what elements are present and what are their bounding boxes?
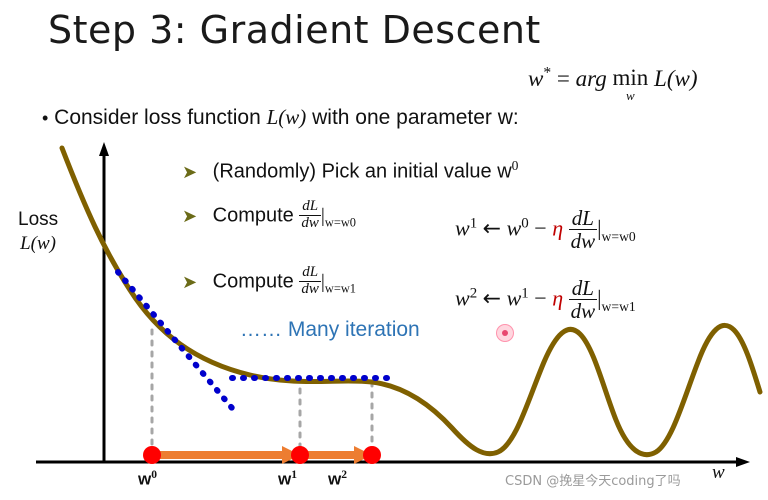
derivative-fraction: dL dw bbox=[299, 265, 321, 298]
evaluation-subscript: w=w bbox=[325, 282, 350, 296]
bullet-marker: • bbox=[42, 108, 48, 128]
x-tick-w1-base: w bbox=[278, 470, 291, 489]
fraction-numerator: dL bbox=[299, 199, 321, 216]
eq2-lhs: w bbox=[455, 286, 470, 311]
update-equation-2: w2 ← w1 − η dL dw |w=w1 bbox=[455, 278, 636, 323]
x-axis-label: w bbox=[712, 462, 725, 484]
argmin-lhs-sup: * bbox=[543, 64, 551, 81]
left-arrow-icon: ← bbox=[483, 287, 501, 312]
eq1-lhs: w bbox=[455, 216, 470, 241]
arrow-bullet-icon: ➤ bbox=[182, 272, 197, 293]
loss-curve bbox=[62, 148, 760, 455]
step-3-text: Compute bbox=[213, 271, 294, 293]
evaluation-subscript: w=w bbox=[602, 299, 629, 314]
evaluation-superscript: 0 bbox=[350, 216, 356, 230]
step-1-text: (Randomly) Pick an initial value w bbox=[213, 161, 512, 183]
eq1-lhs-sup: 1 bbox=[470, 215, 477, 231]
cursor-highlight-dot bbox=[496, 324, 514, 342]
many-iteration-label: Many iteration bbox=[288, 318, 420, 341]
fraction-numerator: dL bbox=[569, 277, 598, 300]
eq1-rhs-term: w bbox=[507, 216, 522, 241]
fraction-denominator: dw bbox=[569, 300, 598, 322]
fraction-denominator: dw bbox=[299, 282, 321, 298]
bullet-text-b: L(w) bbox=[267, 105, 307, 129]
argmin-equals: = bbox=[557, 66, 570, 91]
eq2-rhs-term: w bbox=[507, 286, 522, 311]
argmin-fn: L bbox=[654, 66, 667, 91]
argmin-arg: arg bbox=[576, 66, 607, 91]
x-tick-w2-base: w bbox=[328, 470, 341, 489]
step-item-3: ➤ Compute dL dw |w=w1 bbox=[182, 266, 356, 299]
evaluation-subscript: w=w bbox=[602, 229, 629, 244]
step-item-1: ➤ (Randomly) Pick an initial value w0 bbox=[182, 158, 518, 184]
derivative-fraction: dL dw bbox=[299, 199, 321, 232]
x-tick-w0-base: w bbox=[138, 470, 151, 489]
argmin-lhs: w bbox=[528, 66, 543, 91]
x-tick-w1-sup: 1 bbox=[291, 468, 297, 481]
arrow-bullet-icon: ➤ bbox=[182, 206, 197, 227]
eq2-derivative-fraction: dL dw bbox=[569, 277, 598, 322]
argmin-min-operator: min w bbox=[613, 66, 649, 103]
eq1-rhs-sup: 0 bbox=[521, 215, 528, 231]
evaluation-superscript: 1 bbox=[629, 299, 636, 314]
x-tick-w2-sup: 2 bbox=[341, 468, 347, 481]
argmin-fn-arg: (w) bbox=[667, 66, 698, 91]
fraction-denominator: dw bbox=[299, 216, 321, 232]
fraction-denominator: dw bbox=[569, 230, 598, 252]
bullet-text-a: Consider loss function bbox=[54, 106, 266, 129]
x-tick-w0: w0 bbox=[138, 468, 157, 490]
x-tick-w0-sup: 0 bbox=[151, 468, 157, 481]
y-axis-label-line1: Loss bbox=[18, 208, 58, 232]
many-iteration-note: …… Many iteration bbox=[240, 318, 420, 342]
evaluation-superscript: 1 bbox=[350, 282, 356, 296]
argmin-formula: w* = arg min w L(w) bbox=[528, 62, 698, 99]
x-tick-w1: w1 bbox=[278, 468, 297, 490]
eq1-learning-rate: η bbox=[552, 216, 563, 241]
argmin-min-subscript: w bbox=[613, 89, 649, 103]
page-title: Step 3: Gradient Descent bbox=[48, 8, 541, 52]
eq2-rhs-sup: 1 bbox=[521, 285, 528, 301]
step-item-2: ➤ Compute dL dw |w=w0 bbox=[182, 200, 356, 233]
eq2-lhs-sup: 2 bbox=[470, 285, 477, 301]
step-2-text: Compute bbox=[213, 205, 294, 227]
watermark-text: CSDN @挽星今天coding了吗 bbox=[505, 470, 681, 489]
slide-canvas: Step 3: Gradient Descent w* = arg min w … bbox=[0, 0, 768, 500]
y-axis-label: Loss L(w) bbox=[18, 208, 58, 256]
x-tick-w2: w2 bbox=[328, 468, 347, 490]
eq2-learning-rate: η bbox=[552, 286, 563, 311]
fraction-numerator: dL bbox=[299, 265, 321, 282]
left-arrow-icon: ← bbox=[483, 217, 501, 242]
bullet-text-c: with one parameter w: bbox=[306, 106, 518, 129]
bullet-consider-loss: • Consider loss function L(w) with one p… bbox=[42, 105, 519, 130]
evaluation-superscript: 0 bbox=[629, 229, 636, 244]
step-1-superscript: 0 bbox=[512, 158, 519, 173]
eq1-derivative-fraction: dL dw bbox=[569, 207, 598, 252]
eq1-minus: − bbox=[534, 216, 546, 241]
arrow-bullet-icon: ➤ bbox=[182, 162, 197, 183]
fraction-numerator: dL bbox=[569, 207, 598, 230]
eq2-minus: − bbox=[534, 286, 546, 311]
update-equation-1: w1 ← w0 − η dL dw |w=w0 bbox=[455, 208, 636, 253]
argmin-min-label: min bbox=[613, 66, 649, 89]
ellipsis-dots: …… bbox=[240, 318, 288, 341]
evaluation-subscript: w=w bbox=[325, 216, 350, 230]
y-axis-label-line2: L(w) bbox=[18, 232, 58, 256]
